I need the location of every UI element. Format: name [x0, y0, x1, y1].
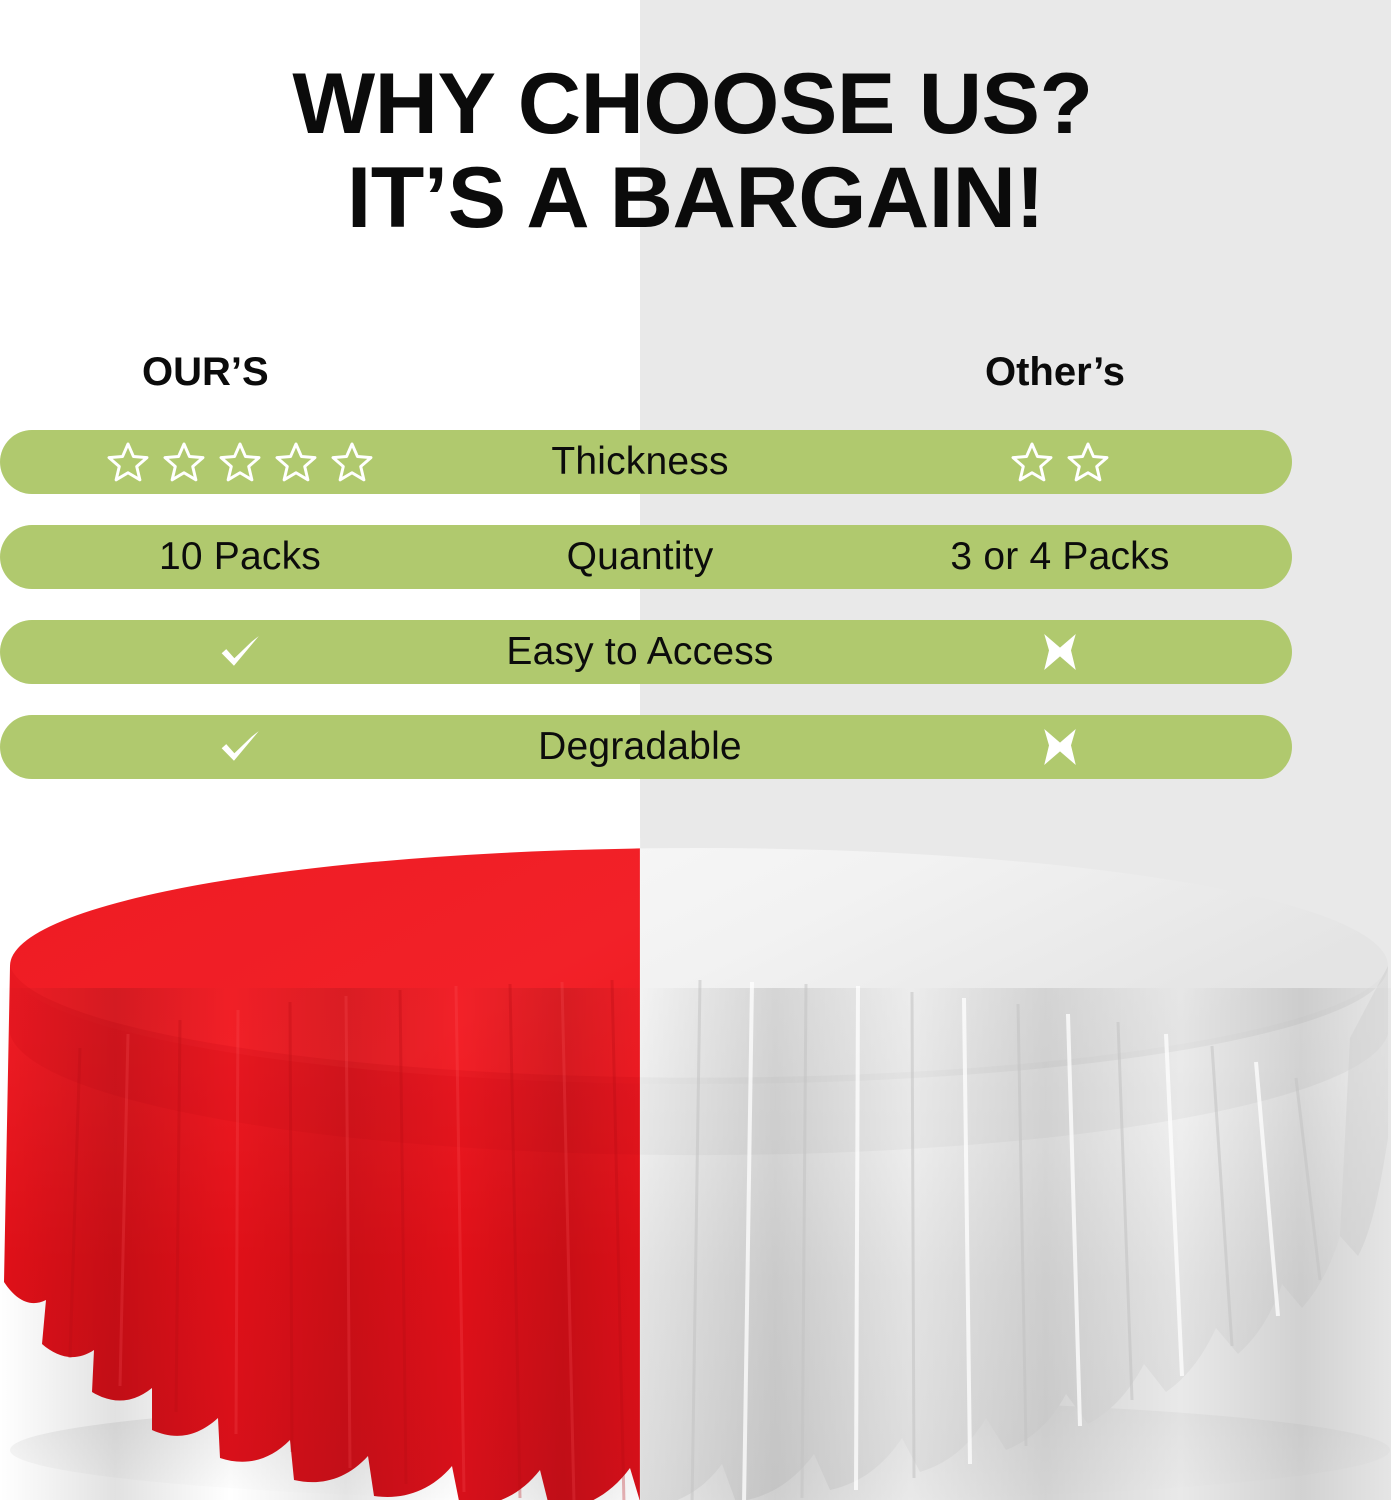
check-mark-icon: [215, 627, 265, 677]
star-rating-other: [1009, 439, 1111, 485]
feature-label: Quantity: [567, 535, 714, 579]
star-outline-icon: [273, 439, 319, 485]
row-3-feature: Easy to Access: [440, 620, 840, 684]
feature-label: Thickness: [551, 440, 728, 484]
star-outline-icon: [217, 439, 263, 485]
star-outline-icon: [161, 439, 207, 485]
other-quantity-text: 3 or 4 Packs: [950, 535, 1169, 579]
product-image-tablecloth: [0, 838, 1391, 1500]
star-outline-icon: [329, 439, 375, 485]
star-outline-icon: [105, 439, 151, 485]
star-rating-ours: [105, 439, 375, 485]
row-4-feature: Degradable: [440, 715, 840, 779]
check-mark-icon: [215, 722, 265, 772]
star-outline-icon: [1065, 439, 1111, 485]
row-2-feature: Quantity: [440, 525, 840, 589]
comparison-table: Thickness 10 Packs Quantity 3 or 4 Packs: [0, 430, 1391, 810]
cross-mark-icon: [1038, 630, 1082, 674]
feature-label: Degradable: [538, 725, 742, 769]
star-outline-icon: [1009, 439, 1055, 485]
row-4-other-value: [860, 715, 1260, 779]
column-header-ours: OUR’S: [142, 350, 269, 395]
row-3-ours-value: [40, 620, 440, 684]
row-1-feature: Thickness: [440, 430, 840, 494]
row-1-ours-value: [40, 430, 440, 494]
cross-mark-icon: [1038, 725, 1082, 769]
row-4-ours-value: [40, 715, 440, 779]
feature-label: Easy to Access: [506, 630, 773, 674]
table-row: Thickness: [0, 430, 1292, 494]
row-3-other-value: [860, 620, 1260, 684]
row-2-ours-value: 10 Packs: [40, 525, 440, 589]
table-row: Easy to Access: [0, 620, 1292, 684]
ours-quantity-text: 10 Packs: [159, 535, 321, 579]
column-header-other: Other’s: [985, 350, 1125, 395]
row-2-other-value: 3 or 4 Packs: [860, 525, 1260, 589]
table-row: 10 Packs Quantity 3 or 4 Packs: [0, 525, 1292, 589]
row-1-other-value: [860, 430, 1260, 494]
table-row: Degradable: [0, 715, 1292, 779]
infographic-page: WHY CHOOSE US? IT’S A BARGAIN! OUR’S Oth…: [0, 0, 1391, 1500]
